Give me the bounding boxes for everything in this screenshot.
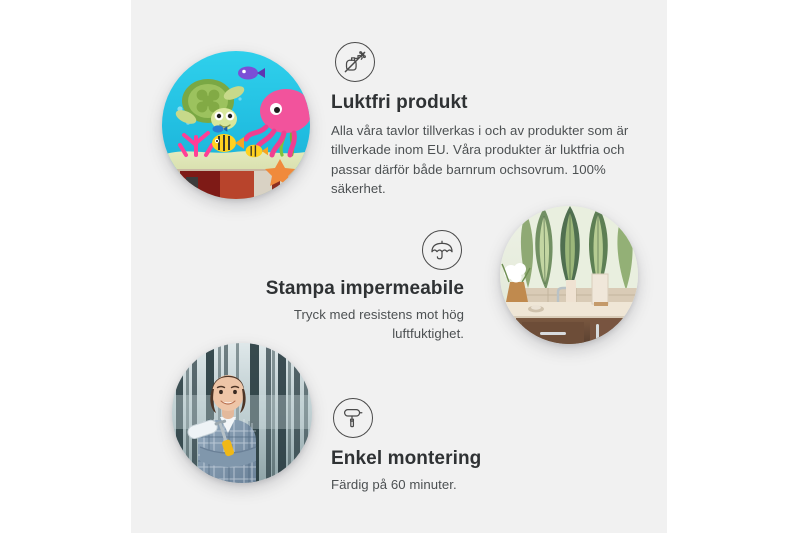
feature-title: Luktfri produkt bbox=[331, 91, 631, 115]
image-woman-forest bbox=[172, 343, 312, 483]
image-bathroom-botanical bbox=[500, 206, 638, 344]
umbrella-icon bbox=[422, 230, 462, 270]
feature-odor-free: Luktfri produkt Alla våra tavlor tillver… bbox=[331, 42, 631, 199]
paint-roller-icon bbox=[333, 398, 373, 438]
feature-title: Enkel montering bbox=[331, 447, 591, 471]
feature-body: Färdig på 60 minuter. bbox=[331, 475, 591, 495]
promo-banner: Luktfri produkt Alla våra tavlor tillver… bbox=[0, 0, 800, 533]
image-underwater-mural bbox=[162, 51, 310, 199]
feature-waterproof: Stampa impermeabile Tryck med resistens … bbox=[222, 230, 464, 344]
feature-body: Tryck med resistens mot hög luftfuktighe… bbox=[222, 305, 464, 344]
feature-title: Stampa impermeabile bbox=[222, 277, 464, 301]
feature-body: Alla våra tavlor tillverkas i och av pro… bbox=[331, 121, 631, 199]
feature-easy-mounting: Enkel montering Färdig på 60 minuter. bbox=[331, 398, 591, 494]
no-spray-bottle-icon bbox=[335, 42, 375, 82]
